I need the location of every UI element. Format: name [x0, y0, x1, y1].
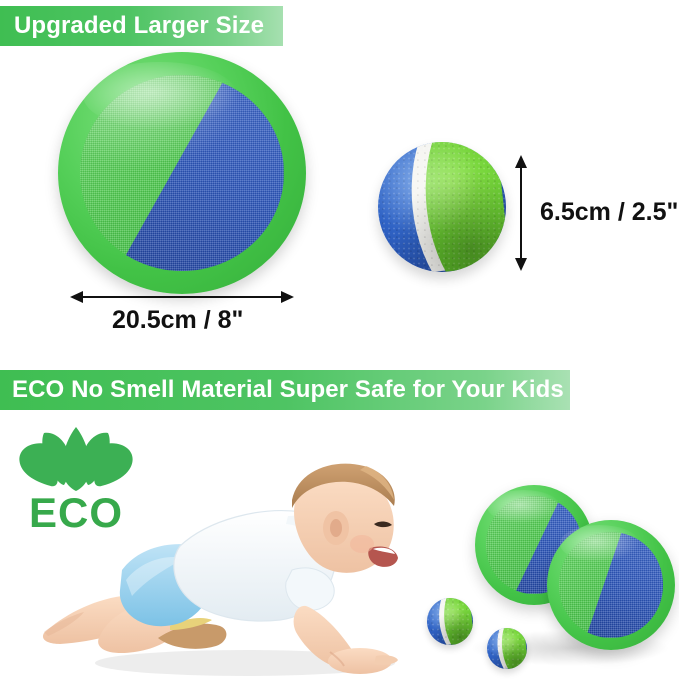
banner-upgraded-size-label: Upgraded Larger Size: [14, 12, 264, 40]
paddle-rim-gloss: [83, 62, 237, 130]
dimension-ball-arrow-down: [515, 258, 527, 271]
paddle-large: [58, 52, 306, 294]
dimension-ball-label: 6.5cm / 2.5": [540, 198, 678, 227]
dimension-ball-arrow-up: [515, 155, 527, 168]
dimension-paddle-line: [78, 296, 284, 298]
dimension-paddle-label: 20.5cm / 8": [112, 306, 243, 335]
banner-eco-safe-label: ECO No Smell Material Super Safe for You…: [12, 376, 564, 404]
banner-upgraded-size: Upgraded Larger Size: [0, 6, 283, 46]
ball-large: [378, 142, 506, 272]
infographic-page: Upgraded Larger Size 20.5cm / 8" 6.5cm /…: [0, 0, 679, 683]
dimension-paddle-arrow-right: [281, 291, 294, 303]
product-set-cluster: [410, 480, 679, 683]
paddle-back-gloss: [487, 490, 560, 524]
crawling-baby-photo: [30, 420, 430, 683]
banner-eco-safe: ECO No Smell Material Super Safe for You…: [0, 370, 570, 410]
ball-shading: [378, 142, 506, 272]
dimension-paddle-arrow-left: [70, 291, 83, 303]
ball-small-1: [427, 598, 473, 645]
paddle-front: [547, 520, 675, 650]
ball-small-1-shading: [427, 598, 473, 645]
paddle-front-gloss: [560, 525, 639, 561]
dimension-ball-line: [520, 166, 522, 262]
ball-small-2: [487, 628, 527, 669]
ball-small-2-shading: [487, 628, 527, 669]
